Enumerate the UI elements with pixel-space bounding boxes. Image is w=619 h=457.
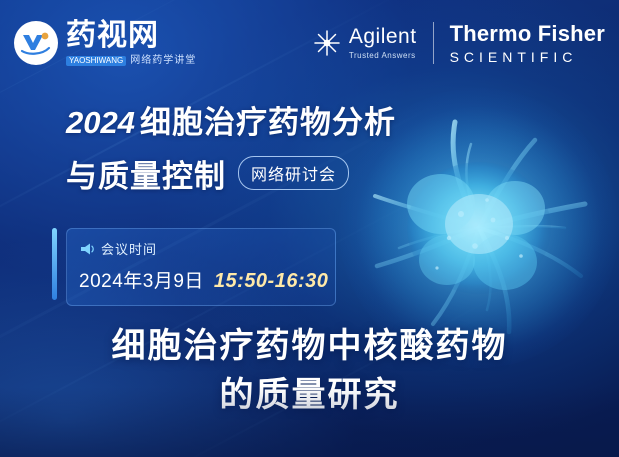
agilent-tagline: Trusted Answers (349, 52, 417, 60)
title-year: 2024 (66, 105, 135, 140)
brand-subtitle: YAOSHIWANG 网络药学讲堂 (66, 56, 196, 66)
thermofisher-name: Thermo Fisher (450, 23, 605, 45)
title-line-1: 2024细胞治疗药物分析 (66, 104, 466, 143)
brand-yaoshiwang: 药视网 YAOSHIWANG 网络药学讲堂 (14, 21, 196, 66)
title-text-2: 与质量控制 (66, 151, 226, 196)
meeting-date: 2024年3月9日 (79, 266, 204, 293)
yao-shi-wang-circle-logo-icon (14, 21, 58, 65)
meeting-time-label: 会议时间 (101, 239, 157, 258)
brand-subtitle-en: YAOSHIWANG (66, 56, 126, 66)
webinar-badge: 网络研讨会 (238, 156, 349, 190)
webinar-poster: 药视网 YAOSHIWANG 网络药学讲堂 (0, 0, 619, 457)
agilent-text: Agilent Trusted Answers (349, 26, 417, 60)
brand-text: 药视网 YAOSHIWANG 网络药学讲堂 (66, 21, 196, 66)
thermofisher-scientific: SCIENTIFIC (450, 50, 605, 64)
agilent-name: Agilent (349, 26, 417, 47)
title-text-1: 细胞治疗药物分析 (140, 105, 396, 140)
brand-name: 药视网 (66, 21, 196, 51)
thermofisher-logo: Thermo Fisher SCIENTIFIC (434, 23, 605, 64)
topic-line-1: 细胞治疗药物中核酸药物 (0, 322, 619, 371)
topic-title: 细胞治疗药物中核酸药物 的质量研究 (0, 322, 619, 421)
agilent-starburst-icon (312, 28, 342, 58)
title-line-2: 与质量控制 网络研讨会 (66, 151, 466, 196)
meeting-datetime-row: 2024年3月9日 15:50-16:30 (79, 266, 323, 293)
meeting-time-label-row: 会议时间 (79, 239, 323, 258)
meeting-time-card: 会议时间 2024年3月9日 15:50-16:30 (66, 228, 336, 306)
main-title: 2024细胞治疗药物分析 与质量控制 网络研讨会 (66, 104, 466, 196)
agilent-logo: Agilent Trusted Answers (312, 26, 433, 60)
sponsor-logos: Agilent Trusted Answers Thermo Fisher SC… (312, 22, 605, 64)
topic-line-2: 的质量研究 (0, 371, 619, 420)
megaphone-icon (79, 242, 95, 256)
poster-header: 药视网 YAOSHIWANG 网络药学讲堂 (0, 0, 619, 86)
meeting-time: 15:50-16:30 (214, 270, 328, 293)
brand-subtitle-cn: 网络药学讲堂 (130, 56, 196, 66)
accent-bar (52, 228, 57, 300)
